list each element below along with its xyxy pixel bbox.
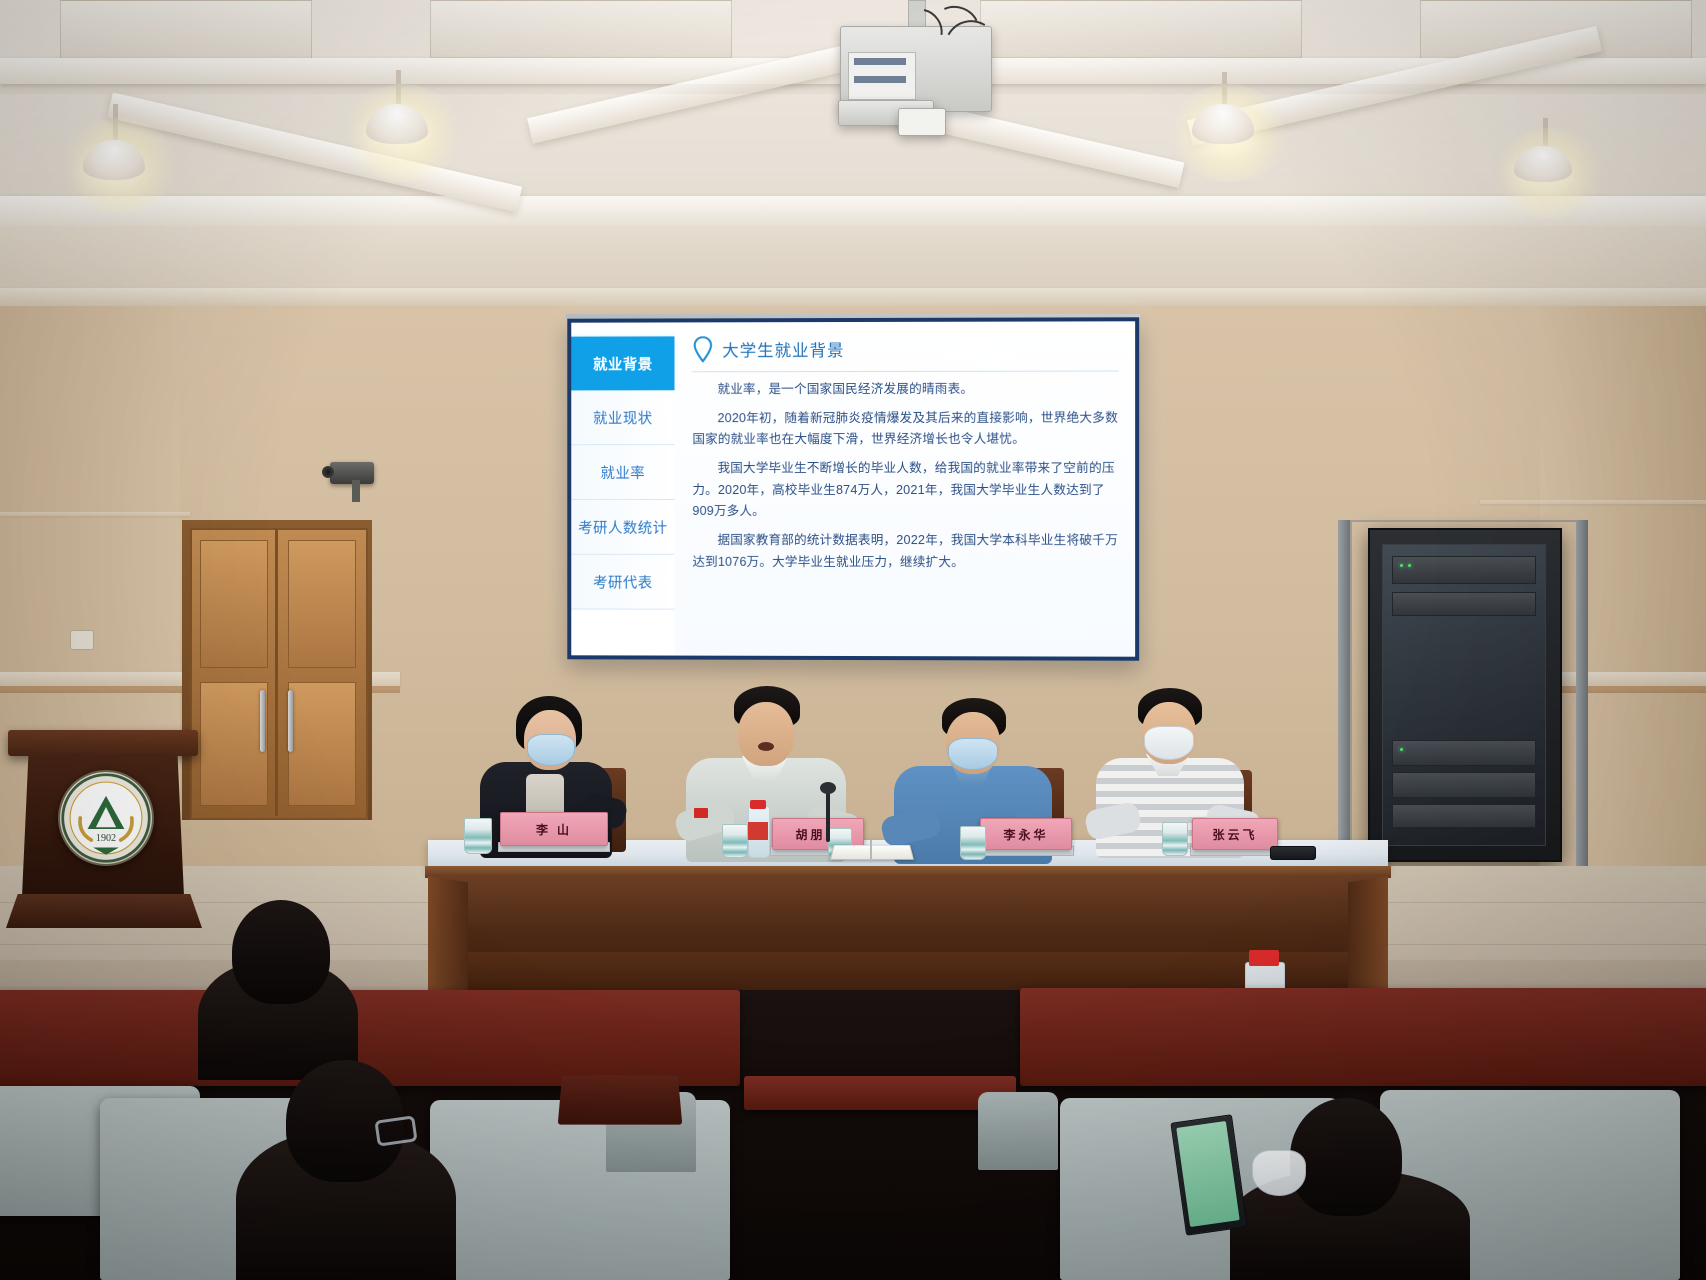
nameplate-1: 李 山 <box>500 812 608 846</box>
nameplate-1-text: 李 山 <box>536 821 572 838</box>
audience-seat-back <box>978 1092 1058 1170</box>
ceiling-coffer <box>980 0 1302 58</box>
slide-sidebar-item-3[interactable]: 考研人数统计 <box>571 500 674 555</box>
audience-person-head <box>1290 1098 1402 1216</box>
wall-panel-seam <box>0 512 190 516</box>
door-panel <box>200 540 268 668</box>
panelist-1-face-mask <box>527 734 575 766</box>
slide-sidebar: 就业背景 就业现状 就业率 考研人数统计 考研代表 <box>571 322 674 655</box>
door-panel <box>288 540 356 668</box>
lectern-base <box>6 894 202 928</box>
wall-trim <box>0 288 1706 306</box>
projector-label-strip <box>854 58 906 65</box>
nameplate-3-text: 李永华 <box>1003 826 1048 843</box>
rack-metal-frame <box>1350 520 1580 874</box>
wall-panel-seam <box>1480 500 1706 504</box>
wall-upper-band <box>0 226 1706 296</box>
foreground-water-bottle-cap <box>1249 950 1279 966</box>
door-handle[interactable] <box>288 690 293 752</box>
desk-microphone-stem[interactable] <box>826 790 830 842</box>
door-handle[interactable] <box>260 690 265 752</box>
slide-content: 大学生就业背景 就业率，是一个国家国民经济发展的晴雨表。 2020年初，随着新冠… <box>675 321 1136 656</box>
rack-frame-post <box>1338 520 1350 872</box>
tea-cup[interactable] <box>1162 822 1188 856</box>
panelist-3-face-mask <box>948 738 998 770</box>
slide-paragraph-1: 2020年初，随着新冠肺炎疫情爆发及其后来的直接影响，世界绝大多数国家的就业率也… <box>692 407 1119 451</box>
conference-table-left-leg <box>428 876 468 1008</box>
ceiling-coffer <box>430 0 732 58</box>
projection-screen: 就业背景 就业现状 就业率 考研人数统计 考研代表 大学生就业背景 就业率，是一… <box>567 317 1139 660</box>
open-book[interactable] <box>830 845 914 860</box>
tea-cup[interactable] <box>960 826 986 860</box>
lectern: 1902 <box>0 730 230 960</box>
presentation-slide: 就业背景 就业现状 就业率 考研人数统计 考研代表 大学生就业背景 就业率，是一… <box>571 321 1135 656</box>
panelist-2-head <box>738 702 794 766</box>
slide-sidebar-item-2[interactable]: 就业率 <box>571 445 674 500</box>
slide-sidebar-item-1[interactable]: 就业现状 <box>571 390 674 445</box>
desk-microphone-head <box>820 782 836 794</box>
table-water-bottle-cap <box>750 800 766 809</box>
ceiling-beam <box>0 196 1706 226</box>
panelist-4-face-mask <box>1144 726 1194 760</box>
audience-desk-center <box>744 1076 1016 1110</box>
seat-tablet-arm[interactable] <box>558 1075 683 1124</box>
rack-frame-post <box>1576 520 1588 872</box>
nameplate-3: 李永华 <box>980 818 1072 850</box>
panelist-2-mouth <box>758 742 774 751</box>
lectern-top <box>8 730 198 756</box>
table-smartphone[interactable] <box>1270 846 1316 860</box>
slide-title: 大学生就业背景 <box>722 337 844 361</box>
audience-person-head <box>232 900 330 1004</box>
door-center-seam <box>275 528 278 816</box>
slide-sidebar-item-0[interactable]: 就业背景 <box>571 336 674 390</box>
audience-person-mask <box>1252 1150 1306 1196</box>
audience-person-glasses <box>374 1115 417 1146</box>
conference-room-photo: 就业背景 就业现状 就业率 考研人数统计 考研代表 大学生就业背景 就业率，是一… <box>0 0 1706 1280</box>
tea-cup[interactable] <box>464 818 492 854</box>
projector-label-strip <box>854 76 906 83</box>
university-crest: 1902 <box>58 770 154 866</box>
tea-cup[interactable] <box>722 824 748 858</box>
open-book-spine <box>870 840 872 862</box>
audience-desk-right <box>1020 988 1706 1086</box>
door-panel <box>288 682 356 806</box>
slide-paragraph-3: 据国家教育部的统计数据表明，2022年，我国大学本科毕业生将破千万达到1076万… <box>692 530 1119 574</box>
ceiling-coffer <box>60 0 312 64</box>
nameplate-4-text: 张云飞 <box>1212 826 1257 843</box>
slide-header: 大学生就业背景 <box>692 335 1119 372</box>
crest-year: 1902 <box>96 833 116 844</box>
slide-sidebar-item-4[interactable]: 考研代表 <box>571 555 674 610</box>
table-water-bottle-label <box>748 822 768 840</box>
slide-paragraph-0: 就业率，是一个国家国民经济发展的晴雨表。 <box>692 379 1119 401</box>
wall-camera-bracket <box>352 480 360 502</box>
projector-tag <box>898 108 946 136</box>
nameplate-4: 张云飞 <box>1192 818 1278 850</box>
location-pin-icon <box>692 336 713 362</box>
wall-camera-lens <box>322 466 334 478</box>
slide-paragraph-2: 我国大学毕业生不断增长的毕业人数，给我国的就业率带来了空前的压力。2020年，高… <box>692 458 1119 523</box>
wall-outlet[interactable] <box>70 630 94 650</box>
party-flag-pin <box>694 808 708 818</box>
